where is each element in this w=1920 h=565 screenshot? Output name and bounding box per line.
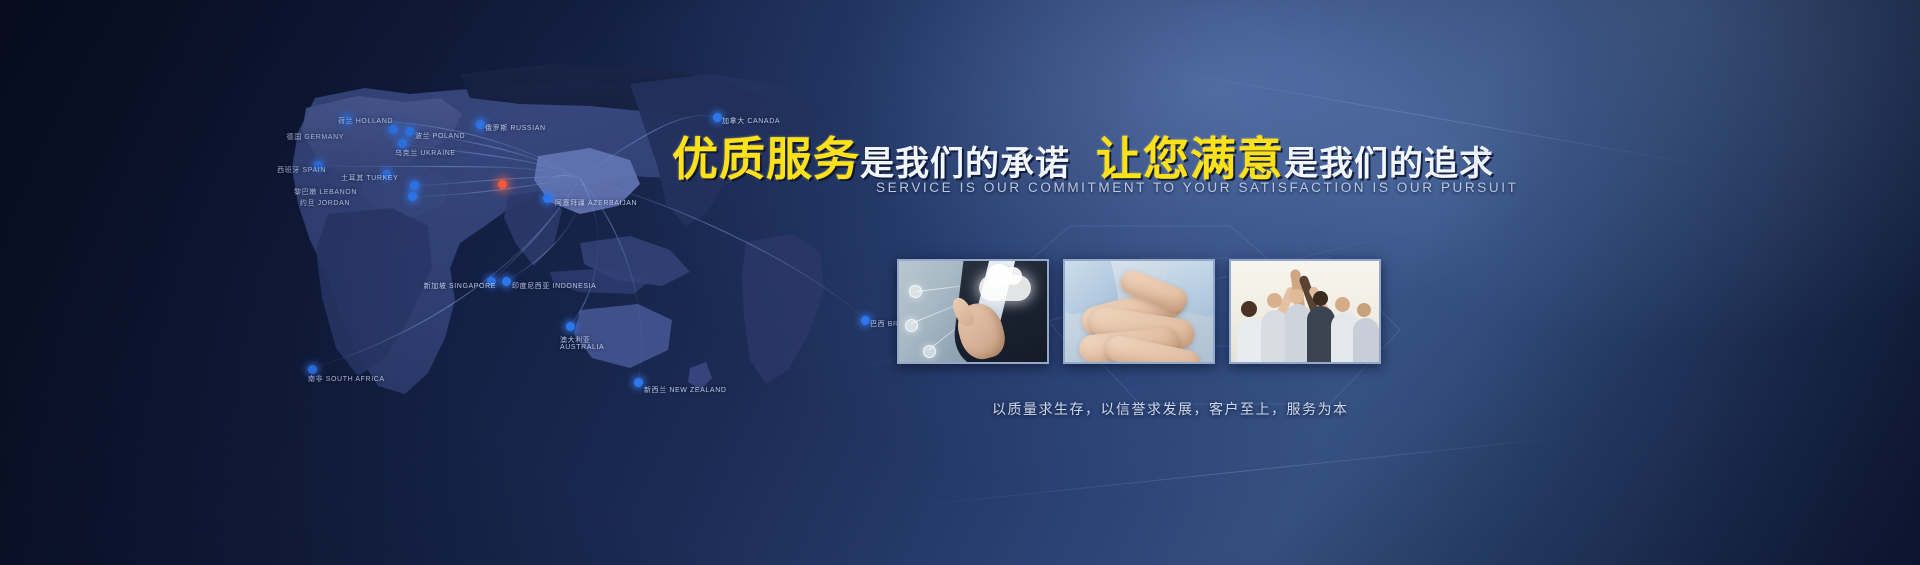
headline-part1-light: 是我们的承诺 — [860, 136, 1070, 185]
map-marker — [566, 322, 575, 331]
map-label: 新加坡 SINGAPORE — [424, 281, 496, 291]
map-marker — [408, 192, 417, 201]
photo-strip — [897, 259, 1381, 364]
team-highfive-photo[interactable] — [1229, 259, 1381, 364]
map-label: 印度尼西亚 INDONESIA — [512, 281, 596, 291]
map-marker — [405, 127, 414, 136]
map-marker — [476, 120, 485, 129]
map-marker — [713, 113, 722, 122]
person-head — [1289, 289, 1304, 304]
map-label: 波兰 POLAND — [415, 131, 465, 141]
map-marker — [861, 316, 870, 325]
map-marker — [543, 194, 552, 203]
map-marker — [498, 180, 507, 189]
bottom-tagline: 以质量求生存，以信誉求发展，客户至上，服务为本 — [992, 399, 1349, 419]
world-map: 荷兰 HOLLAND德国 GERMANY波兰 POLAND俄罗斯 RUSSIAN… — [110, 28, 910, 448]
map-marker — [389, 125, 398, 134]
person-head — [1313, 291, 1328, 306]
hero-banner: 荷兰 HOLLAND德国 GERMANY波兰 POLAND俄罗斯 RUSSIAN… — [0, 0, 1920, 565]
map-marker — [308, 365, 317, 374]
map-label: 新西兰 NEW ZEALAND — [644, 385, 727, 395]
map-label: 约旦 JORDAN — [300, 198, 350, 208]
map-label: 黎巴嫩 LEBANON — [294, 187, 357, 197]
map-label: AUSTRALIA — [560, 344, 604, 351]
map-label: 土耳其 TURKEY — [341, 173, 398, 183]
world-map-svg — [110, 28, 910, 448]
map-marker — [410, 181, 419, 190]
map-label: 俄罗斯 RUSSIAN — [485, 123, 546, 133]
stacked-hands-photo[interactable] — [1063, 259, 1215, 364]
map-label: 阿塞拜疆 AZERBAIJAN — [555, 198, 637, 208]
map-label: 南非 SOUTH AFRICA — [308, 374, 385, 384]
headline-subtitle: SERVICE IS OUR COMMITMENT TO YOUR SATISF… — [876, 180, 1518, 195]
map-marker — [502, 277, 511, 286]
person-head — [1267, 293, 1282, 308]
map-marker — [634, 378, 643, 387]
map-label: 西班牙 SPAIN — [277, 165, 326, 175]
person-head — [1335, 297, 1350, 312]
map-label: 德国 GERMANY — [287, 132, 344, 142]
headline-part1-strong: 优质服务 — [672, 123, 860, 189]
headline-part2-light: 是我们的追求 — [1284, 136, 1494, 185]
cloud-network-photo[interactable] — [897, 259, 1049, 364]
map-label: 乌克兰 UKRAINE — [395, 148, 456, 158]
person-body — [1353, 318, 1379, 362]
cloud-icon — [979, 275, 1031, 301]
person-head — [1357, 303, 1371, 317]
map-south-america — [742, 234, 824, 384]
map-marker — [398, 139, 407, 148]
map-label: 荷兰 HOLLAND — [338, 116, 393, 126]
person-head — [1241, 301, 1257, 317]
